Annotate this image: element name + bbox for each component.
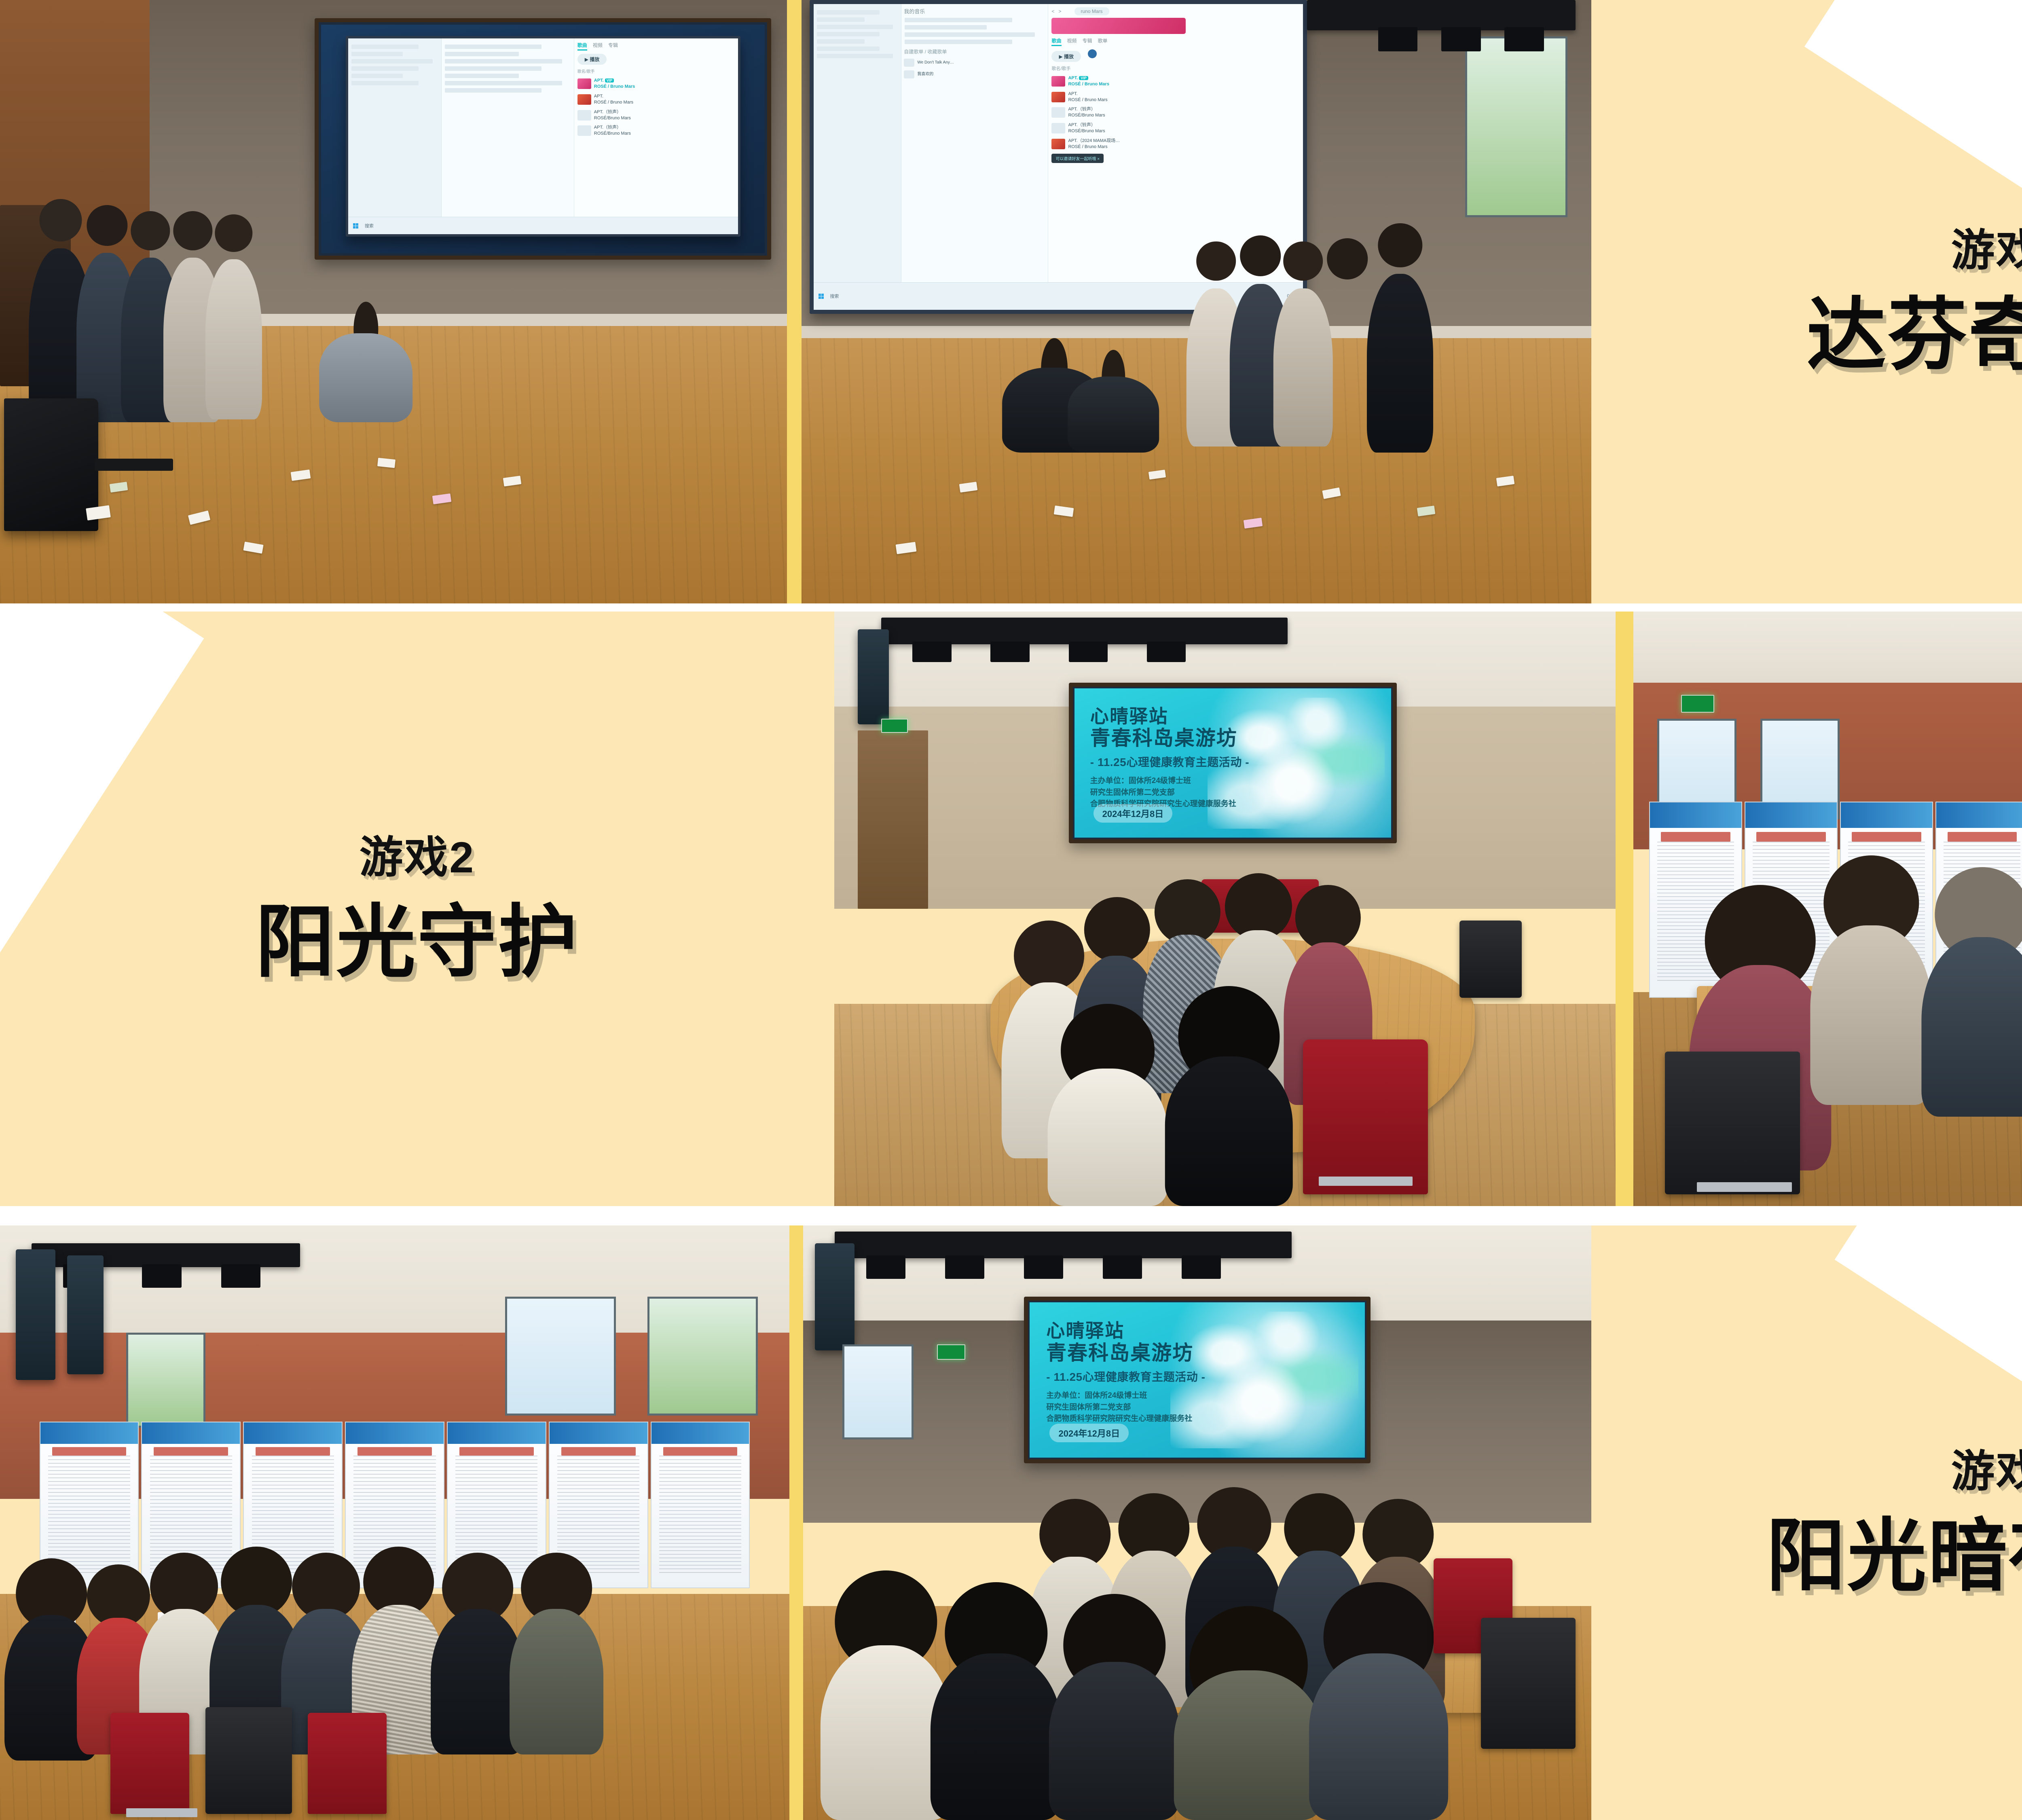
slide-title-2: 青春科岛桌游坊 (1090, 727, 1265, 749)
panel-game1: 歌曲视频专辑 ▶ 播放 歌名/歌手 APT. VIPROSÉ / Bruno M… (0, 0, 2022, 603)
slide-org-2: 研究生固体所第二党支部 (1090, 787, 1265, 799)
photo-gutter (787, 0, 802, 603)
slide-org-2: 研究生固体所第二党支部 (1046, 1402, 1231, 1414)
slide-title-1: 心晴驿站 (1090, 707, 1265, 727)
photo-content (1633, 612, 2022, 1206)
projection-screen-2: 心晴驿站 青春科岛桌游坊 - 11.25心理健康教育主题活动 - 主办单位：固体… (1069, 683, 1397, 843)
caption-game1: 游戏1 达芬奇密码 (1591, 0, 2022, 603)
slide-date: 2024年12月8日 (1049, 1424, 1129, 1442)
slide-title-2: 青春科岛桌游坊 (1046, 1342, 1231, 1364)
poster-canvas: 歌曲视频专辑 ▶ 播放 歌名/歌手 APT. VIPROSÉ / Bruno M… (0, 0, 2022, 1820)
projection-screen-3: 心晴驿站 青春科岛桌游坊 - 11.25心理健康教育主题活动 - 主办单位：固体… (1024, 1297, 1371, 1463)
photo-content (0, 1225, 789, 1820)
caption-game3: 游戏3 阳光暗夜推理 (1591, 1225, 2022, 1820)
photo-gutter (789, 1225, 803, 1820)
projection-screen-1: 歌曲视频专辑 ▶ 播放 歌名/歌手 APT. VIPROSÉ / Bruno M… (315, 18, 771, 260)
slide-title-1: 心晴驿站 (1046, 1321, 1231, 1341)
photo-content: 我的音乐 自建歌单 / 收藏歌单 We Don't Talk Any… 我喜欢的 (802, 0, 1591, 603)
photo-exhibit-hall-long-table-discussion (0, 1225, 789, 1820)
slide-org-1: 主办单位：固体所24级博士班 (1046, 1390, 1231, 1402)
game3-kicker: 游戏3 (1951, 1450, 2022, 1493)
panel-game3: 心晴驿站 青春科岛桌游坊 - 11.25心理健康教育主题活动 - 主办单位：固体… (0, 1225, 2022, 1820)
game2-kicker: 游戏2 (360, 836, 475, 879)
panel-game2: 游戏2 阳光守护 (0, 612, 2022, 1206)
photo-boardgame-table-exhibit-hall (1633, 612, 2022, 1206)
photo-content: 歌曲视频专辑 ▶ 播放 歌名/歌手 APT. VIPROSÉ / Bruno M… (0, 0, 787, 603)
slide-subtitle: - 11.25心理健康教育主题活动 - (1046, 1368, 1231, 1384)
photo-content: 心晴驿站 青春科岛桌游坊 - 11.25心理健康教育主题活动 - 主办单位：固体… (834, 612, 1616, 1206)
game2-headline: 阳光守护 (256, 903, 579, 982)
photo-students-picking-cards-projector: 我的音乐 自建歌单 / 收藏歌单 We Don't Talk Any… 我喜欢的 (802, 0, 1591, 603)
slide-org-1: 主办单位：固体所24级博士班 (1090, 775, 1265, 787)
slide-subtitle: - 11.25心理健康教育主题活动 - (1090, 753, 1265, 770)
game1-kicker: 游戏1 (1951, 229, 2022, 272)
photo-auditorium-group-reasoning-game: 心晴驿站 青春科岛桌游坊 - 11.25心理健康教育主题活动 - 主办单位：固体… (803, 1225, 1591, 1820)
slide-date: 2024年12月8日 (1093, 804, 1173, 823)
photo-boardgame-round-table-group: 心晴驿站 青春科岛桌游坊 - 11.25心理健康教育主题活动 - 主办单位：固体… (834, 612, 1616, 1206)
photo-content: 心晴驿站 青春科岛桌游坊 - 11.25心理健康教育主题活动 - 主办单位：固体… (803, 1225, 1591, 1820)
photo-lecture-hall-students-lineup: 歌曲视频专辑 ▶ 播放 歌名/歌手 APT. VIPROSÉ / Bruno M… (0, 0, 787, 603)
slide-org-3: 合肥物质科学研究院研究生心理健康服务社 (1046, 1413, 1231, 1425)
game3-headline: 阳光暗夜推理 (1766, 1517, 2022, 1596)
game1-headline: 达芬奇密码 (1807, 296, 2022, 375)
photo-gutter (1616, 612, 1633, 1206)
caption-game2: 游戏2 阳光守护 (0, 612, 834, 1206)
